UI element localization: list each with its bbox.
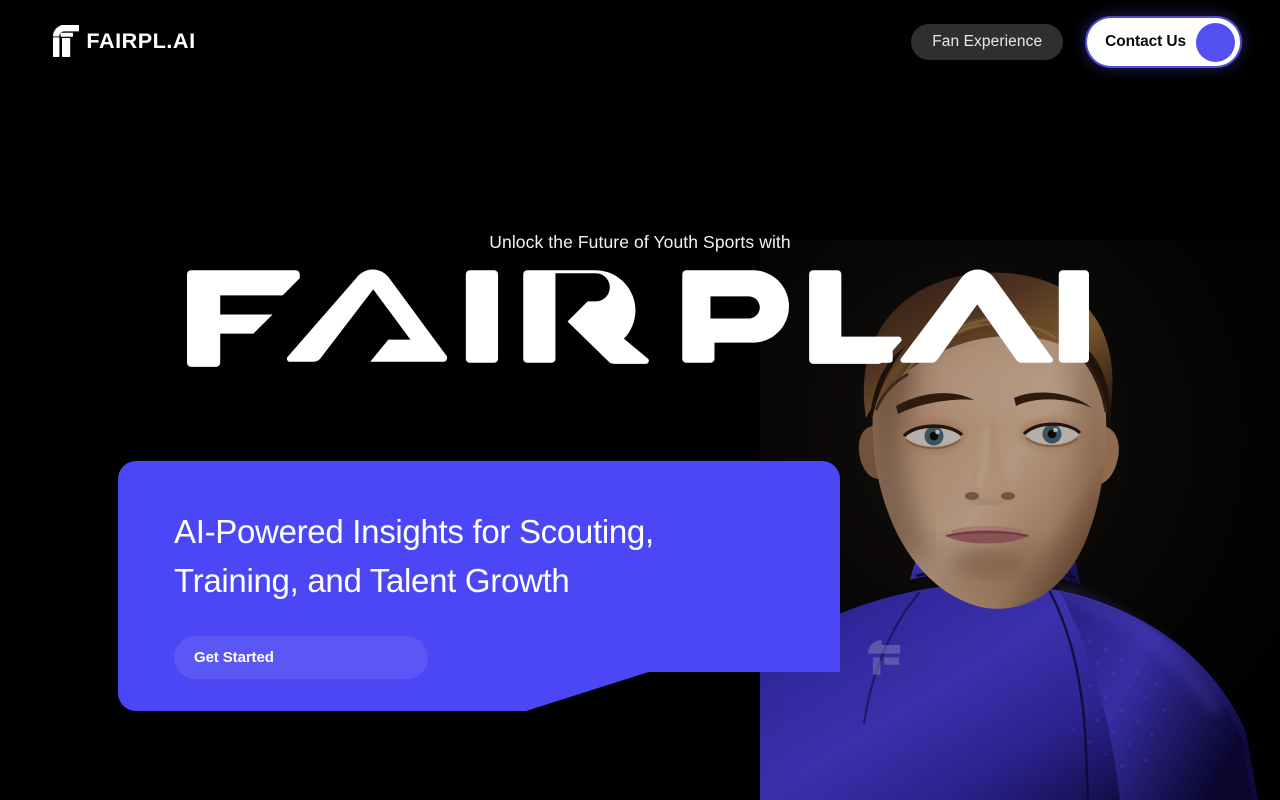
site-header: FAIRPL.AI Fan Experience Contact Us <box>0 0 1280 82</box>
card-heading: AI-Powered Insights for Scouting, Traini… <box>174 507 794 605</box>
hero-kicker: Unlock the Future of Youth Sports with <box>0 232 1280 253</box>
fairplai-f-mark-icon <box>53 25 79 57</box>
get-started-button[interactable]: Get Started <box>174 636 428 679</box>
hero-wordmark <box>0 266 1280 367</box>
hero-cta-card: AI-Powered Insights for Scouting, Traini… <box>118 461 840 711</box>
fairplai-wordmark-icon <box>187 266 1093 367</box>
get-started-label: Get Started <box>194 649 274 666</box>
card-heading-line-2: Training, and Talent Growth <box>174 556 794 605</box>
circle-accent-icon <box>1196 23 1235 62</box>
header-nav: Fan Experience Contact Us <box>911 18 1240 66</box>
athlete-collar <box>910 506 1080 584</box>
nav-item-fan-experience[interactable]: Fan Experience <box>911 24 1063 60</box>
brand-wordmark: FAIRPL.AI <box>86 31 195 52</box>
contact-us-button[interactable]: Contact Us <box>1087 18 1240 66</box>
athlete-neck <box>950 470 1052 553</box>
contact-us-label: Contact Us <box>1105 33 1186 51</box>
brand-logo[interactable]: FAIRPL.AI <box>53 24 194 58</box>
hero-page: FAIRPL.AI Fan Experience Contact Us Unlo… <box>0 0 1280 800</box>
card-heading-line-1: AI-Powered Insights for Scouting, <box>174 513 654 550</box>
athlete-head <box>859 273 1119 609</box>
card-content: AI-Powered Insights for Scouting, Traini… <box>118 461 840 711</box>
jersey-chest-logo-icon <box>868 640 900 675</box>
